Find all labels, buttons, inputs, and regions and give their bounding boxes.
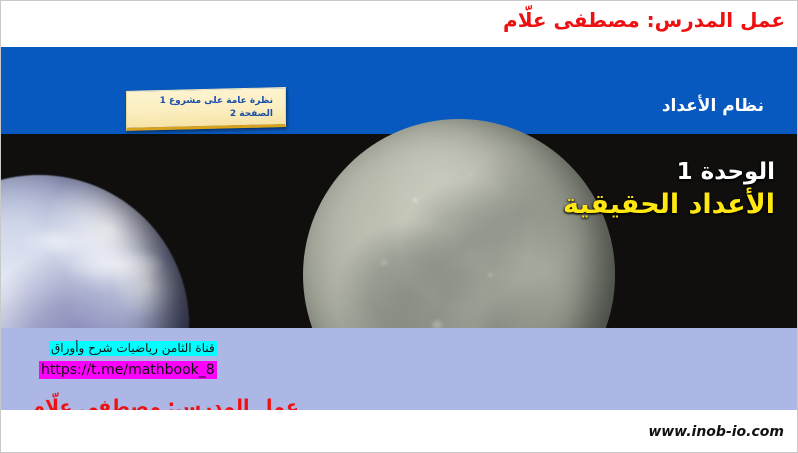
channel-links: قناة الثامن رياضيات شرح وأوراق https://t… (39, 337, 217, 379)
unit-number-title: الوحدة 1 (563, 157, 775, 187)
document-page: عمل المدرس: مصطفى علّام نظام الأعداد نظر… (0, 0, 798, 453)
channel-name-row: قناة الثامن رياضيات شرح وأوراق (39, 337, 217, 356)
telegram-channel-link[interactable]: https://t.me/mathbook_8 (39, 361, 217, 379)
overview-note-line-1: نظرة عامة على مشروع 1 (135, 95, 273, 108)
unit-subject-title: الأعداد الحقيقية (563, 187, 775, 223)
site-watermark: www.inob-io.com (648, 424, 784, 440)
channel-name-highlight: قناة الثامن رياضيات شرح وأوراق (49, 341, 217, 356)
channel-url-row: https://t.me/mathbook_8 (39, 359, 217, 379)
slide-canvas: نظام الأعداد نظرة عامة على مشروع 1 الصفح… (1, 47, 797, 410)
overview-note[interactable]: نظرة عامة على مشروع 1 الصفحة 2 (126, 87, 286, 131)
slide-banner-title: نظام الأعداد (662, 96, 764, 116)
slide-banner: نظام الأعداد (1, 47, 797, 134)
page-footer: www.inob-io.com (1, 410, 797, 452)
page-header: عمل المدرس: مصطفى علّام (1, 1, 797, 47)
slide-title-block: الوحدة 1 الأعداد الحقيقية (563, 157, 775, 223)
overview-note-body: نظرة عامة على مشروع 1 الصفحة 2 (127, 90, 285, 121)
teacher-credit-top: عمل المدرس: مصطفى علّام (503, 8, 785, 32)
overview-note-line-2: الصفحة 2 (135, 108, 273, 121)
teacher-credit-bottom: عمل المدرس: مصطفى علّام (31, 396, 299, 410)
